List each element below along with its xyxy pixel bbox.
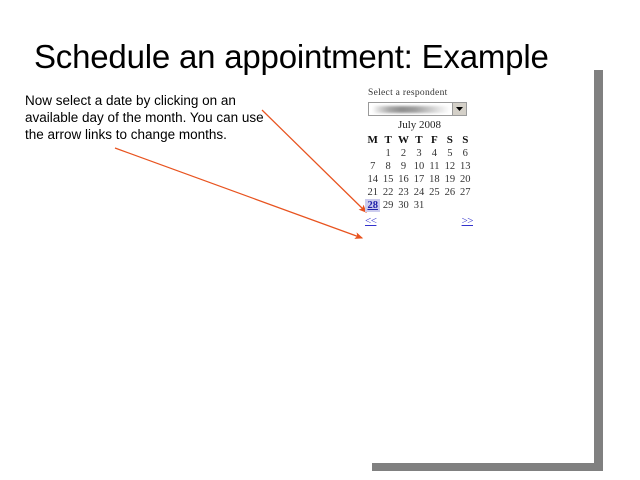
slide-shadow-right — [594, 70, 603, 464]
calendar-week-row: 14 15 16 17 18 19 20 — [365, 173, 473, 186]
calendar-day-cell[interactable]: 25 — [427, 186, 442, 199]
calendar-day-cell[interactable]: 21 — [365, 186, 380, 199]
calendar-weekday-wed: W — [396, 133, 411, 147]
calendar-day-cell[interactable]: 6 — [458, 147, 473, 160]
slide-shadow-bottom — [372, 463, 603, 471]
calendar-weekday-sat: S — [442, 133, 457, 147]
calendar-day-cell[interactable]: 30 — [396, 199, 411, 212]
instruction-paragraph: Now select a date by clicking on an avai… — [25, 92, 273, 143]
calendar-day-cell — [427, 199, 442, 212]
calendar-day-cell[interactable]: 27 — [458, 186, 473, 199]
calendar-day-cell[interactable]: 14 — [365, 173, 380, 186]
calendar-week-row: 7 8 9 10 11 12 13 — [365, 160, 473, 173]
calendar-day-cell[interactable]: 9 — [396, 160, 411, 173]
calendar-day-cell[interactable]: 31 — [411, 199, 426, 212]
calendar-day-cell[interactable]: 20 — [458, 173, 473, 186]
calendar-day-cell — [365, 147, 380, 160]
calendar-day-cell[interactable]: 17 — [411, 173, 426, 186]
calendar-weekday-sun: S — [458, 133, 473, 147]
calendar-selected-day-label: 28 — [367, 200, 378, 211]
calendar-weekday-mon: M — [365, 133, 380, 147]
calendar-weekday-tue: T — [380, 133, 395, 147]
calendar-month-label: July 2008 — [365, 119, 480, 131]
calendar-day-cell[interactable]: 16 — [396, 173, 411, 186]
page-title: Schedule an appointment: Example — [34, 38, 614, 76]
calendar-day-cell[interactable]: 1 — [380, 147, 395, 160]
calendar-day-cell[interactable]: 2 — [396, 147, 411, 160]
calendar-prev-month-link[interactable]: << — [365, 215, 376, 227]
calendar-week-row: 21 22 23 24 25 26 27 — [365, 186, 473, 199]
annotation-arrow-to-month-links — [115, 148, 362, 238]
calendar-day-cell[interactable]: 24 — [411, 186, 426, 199]
calendar-widget: Select a respondent July 2008 M T W T F … — [365, 88, 480, 227]
calendar-week-row: 28 29 30 31 — [365, 199, 473, 212]
calendar-day-cell[interactable]: 23 — [396, 186, 411, 199]
calendar-weekday-fri: F — [427, 133, 442, 147]
calendar-day-cell[interactable]: 5 — [442, 147, 457, 160]
calendar-day-cell — [442, 199, 457, 212]
calendar-day-cell[interactable]: 26 — [442, 186, 457, 199]
calendar-weekday-thu: T — [411, 133, 426, 147]
calendar-day-cell[interactable]: 19 — [442, 173, 457, 186]
calendar-day-cell[interactable]: 3 — [411, 147, 426, 160]
calendar-day-cell-selected[interactable]: 28 — [365, 199, 380, 212]
respondent-select-value — [372, 106, 450, 113]
calendar-table: M T W T F S S 1 2 3 4 5 6 7 8 9 — [365, 133, 473, 212]
calendar-week-row: 1 2 3 4 5 6 — [365, 147, 473, 160]
calendar-day-cell[interactable]: 18 — [427, 173, 442, 186]
annotation-arrow-to-selected-day — [262, 110, 366, 212]
calendar-day-cell[interactable]: 12 — [442, 160, 457, 173]
calendar-nav: << >> — [365, 215, 473, 227]
calendar-day-cell[interactable]: 7 — [365, 160, 380, 173]
calendar-day-cell[interactable]: 22 — [380, 186, 395, 199]
calendar-day-cell[interactable]: 10 — [411, 160, 426, 173]
chevron-down-icon[interactable] — [452, 103, 466, 115]
calendar-day-cell[interactable]: 4 — [427, 147, 442, 160]
calendar-weekday-header-row: M T W T F S S — [365, 133, 473, 147]
calendar-day-cell[interactable]: 29 — [380, 199, 395, 212]
calendar-next-month-link[interactable]: >> — [462, 215, 473, 227]
calendar-day-cell[interactable]: 8 — [380, 160, 395, 173]
calendar-day-cell[interactable]: 11 — [427, 160, 442, 173]
calendar-day-cell — [458, 199, 473, 212]
calendar-day-cell[interactable]: 15 — [380, 173, 395, 186]
calendar-day-cell[interactable]: 13 — [458, 160, 473, 173]
respondent-select[interactable] — [368, 102, 467, 116]
respondent-select-label: Select a respondent — [368, 88, 480, 98]
